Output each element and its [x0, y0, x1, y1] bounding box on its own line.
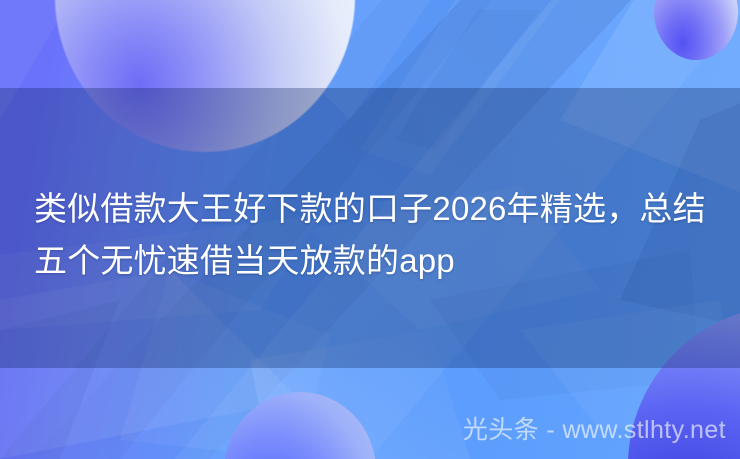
- watermark: 光头条 - www.stlhty.net: [463, 415, 726, 445]
- page-title: 类似借款大王好下款的口子2026年精选，总结五个无忧速借当天放款的app: [0, 183, 740, 287]
- sphere-bottom-left-icon: [224, 392, 376, 459]
- promo-banner: 类似借款大王好下款的口子2026年精选，总结五个无忧速借当天放款的app 光头条…: [0, 0, 740, 459]
- sphere-upper-left-icon: [55, 0, 355, 152]
- sphere-top-right-icon: [654, 0, 738, 60]
